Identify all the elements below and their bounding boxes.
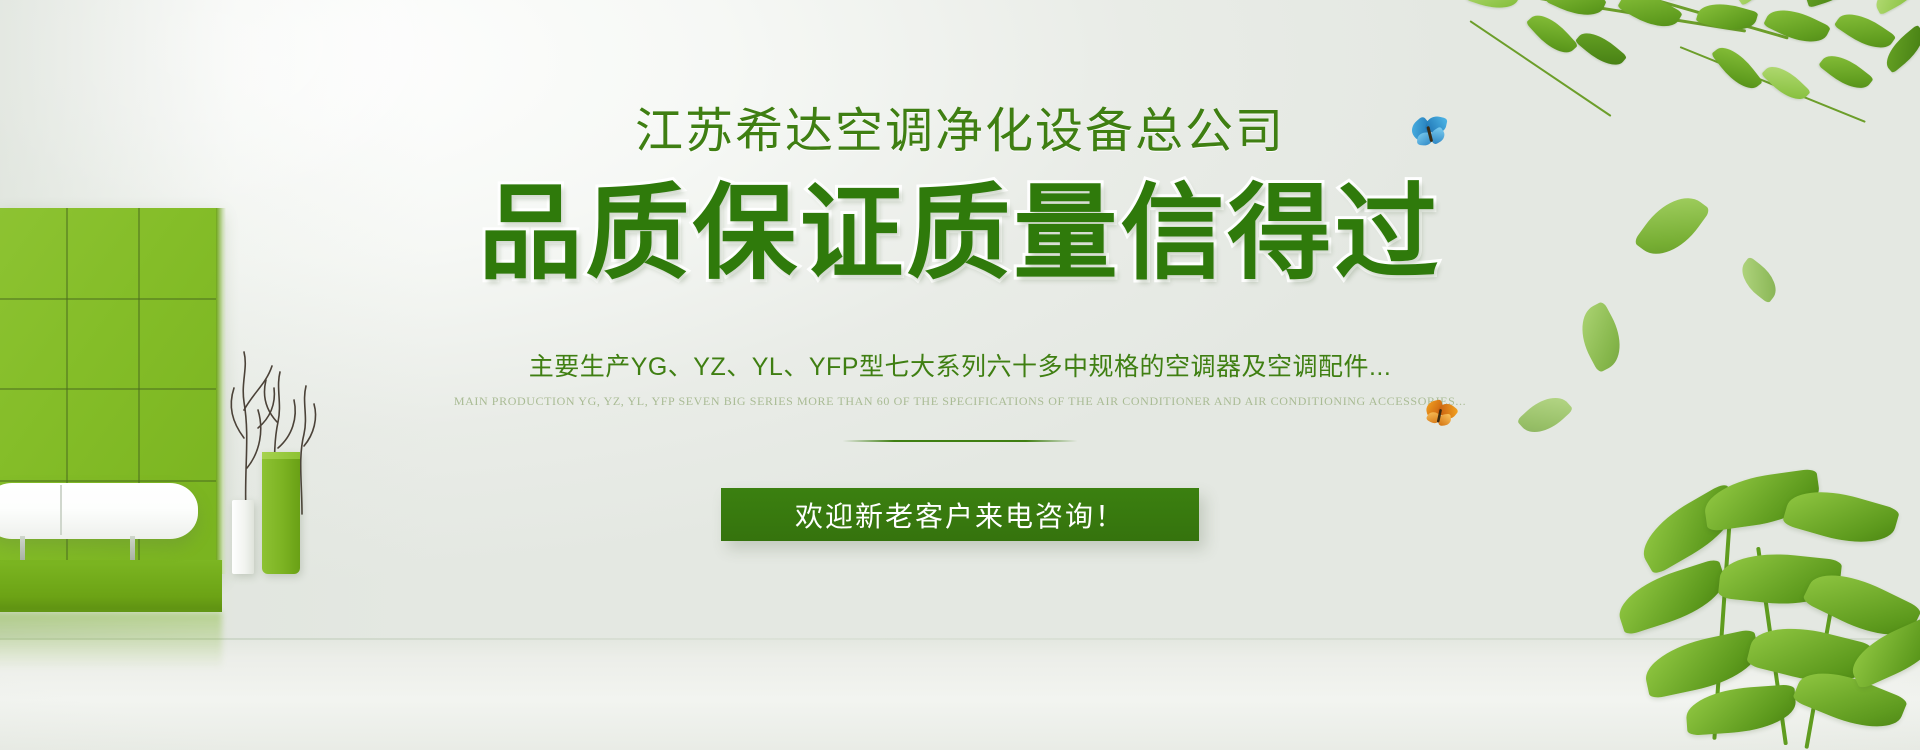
leaf-cluster-top-right [1380, 0, 1920, 180]
potted-plant-bottom-right [1600, 450, 1920, 750]
subtitle-english: MAIN PRODUCTION YG, YZ, YL, YFP SEVEN BI… [0, 394, 1920, 408]
promo-banner: 江苏希达空调净化设备总公司 品质保证质量信得过 主要生产YG、YZ、YL、YFP… [0, 0, 1920, 750]
contact-cta-button[interactable]: 欢迎新老客户来电咨询！ [721, 488, 1199, 541]
divider-line [843, 440, 1078, 442]
subtitle-chinese: 主要生产YG、YZ、YL、YFP型七大系列六十多中规格的空调器及空调配件... [0, 352, 1920, 382]
headline-slogan: 品质保证质量信得过 [0, 180, 1920, 289]
